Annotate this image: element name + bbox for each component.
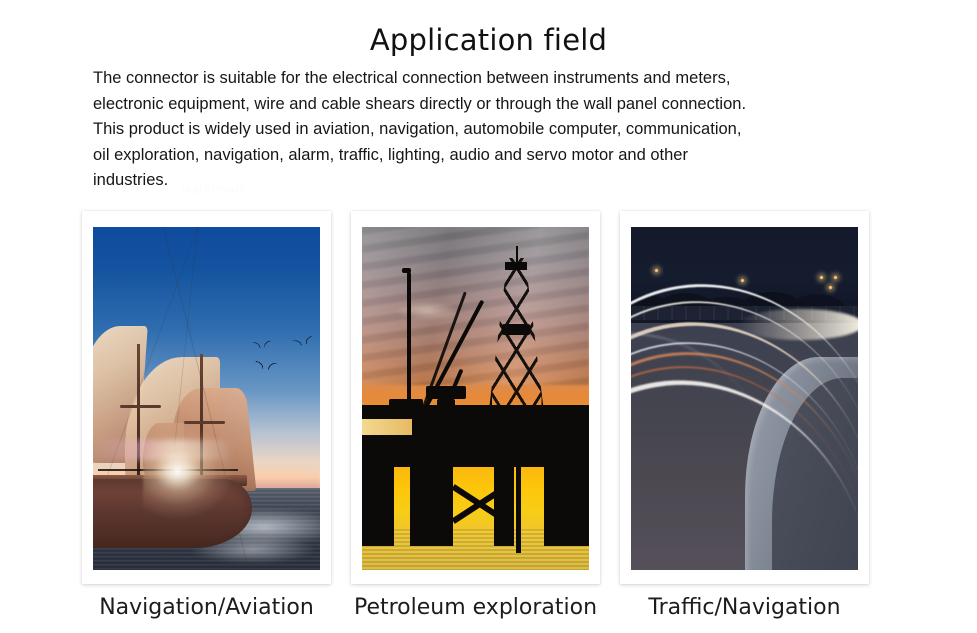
street-lamp-icon bbox=[654, 268, 659, 273]
rig-leg bbox=[544, 467, 589, 546]
sailing-ship-at-sunset-photo bbox=[93, 227, 320, 570]
street-lamp-icon bbox=[833, 275, 838, 280]
caption-navigation-aviation: Navigation/Aviation bbox=[82, 591, 331, 633]
cloud-highlight bbox=[394, 302, 462, 319]
rig-leg bbox=[410, 467, 453, 546]
offshore-oil-rig-silhouette-photo bbox=[362, 227, 589, 570]
card-traffic-navigation[interactable] bbox=[620, 211, 869, 584]
intro-line-2: electronic equipment, wire and cable she… bbox=[93, 92, 883, 118]
seagull-icon bbox=[256, 360, 278, 370]
card-navigation-aviation[interactable] bbox=[82, 211, 331, 584]
intro-line-4: oil exploration, navigation, alarm, traf… bbox=[93, 143, 883, 169]
highway-light-trails-photo bbox=[631, 227, 858, 570]
watermark-text: watermark bbox=[182, 182, 442, 196]
derrick-platform bbox=[502, 324, 530, 335]
intro-line-3: This product is widely used in aviation,… bbox=[93, 117, 883, 143]
crane-head bbox=[402, 268, 411, 273]
light-trail-flare bbox=[738, 309, 858, 340]
crane-mast bbox=[407, 272, 411, 413]
rig-leg bbox=[362, 467, 394, 546]
application-cards bbox=[82, 211, 894, 584]
rig-deck bbox=[362, 405, 589, 467]
card-petroleum-exploration[interactable] bbox=[351, 211, 600, 584]
rig-vertical-brace bbox=[516, 467, 521, 553]
caption-traffic-navigation: Traffic/Navigation bbox=[620, 591, 869, 633]
intro-line-1: The connector is suitable for the electr… bbox=[93, 66, 883, 92]
page-title: Application field bbox=[0, 23, 977, 57]
rig-leg bbox=[494, 467, 514, 546]
rig-deck-opening bbox=[362, 419, 412, 434]
sun-flare bbox=[143, 423, 234, 519]
caption-petroleum-exploration: Petroleum exploration bbox=[351, 591, 600, 633]
card-captions: Navigation/Aviation Petroleum exploratio… bbox=[82, 591, 894, 633]
intro-paragraph: The connector is suitable for the electr… bbox=[93, 66, 883, 194]
derrick-tower bbox=[489, 258, 543, 409]
rig-platform-mid bbox=[426, 386, 467, 398]
